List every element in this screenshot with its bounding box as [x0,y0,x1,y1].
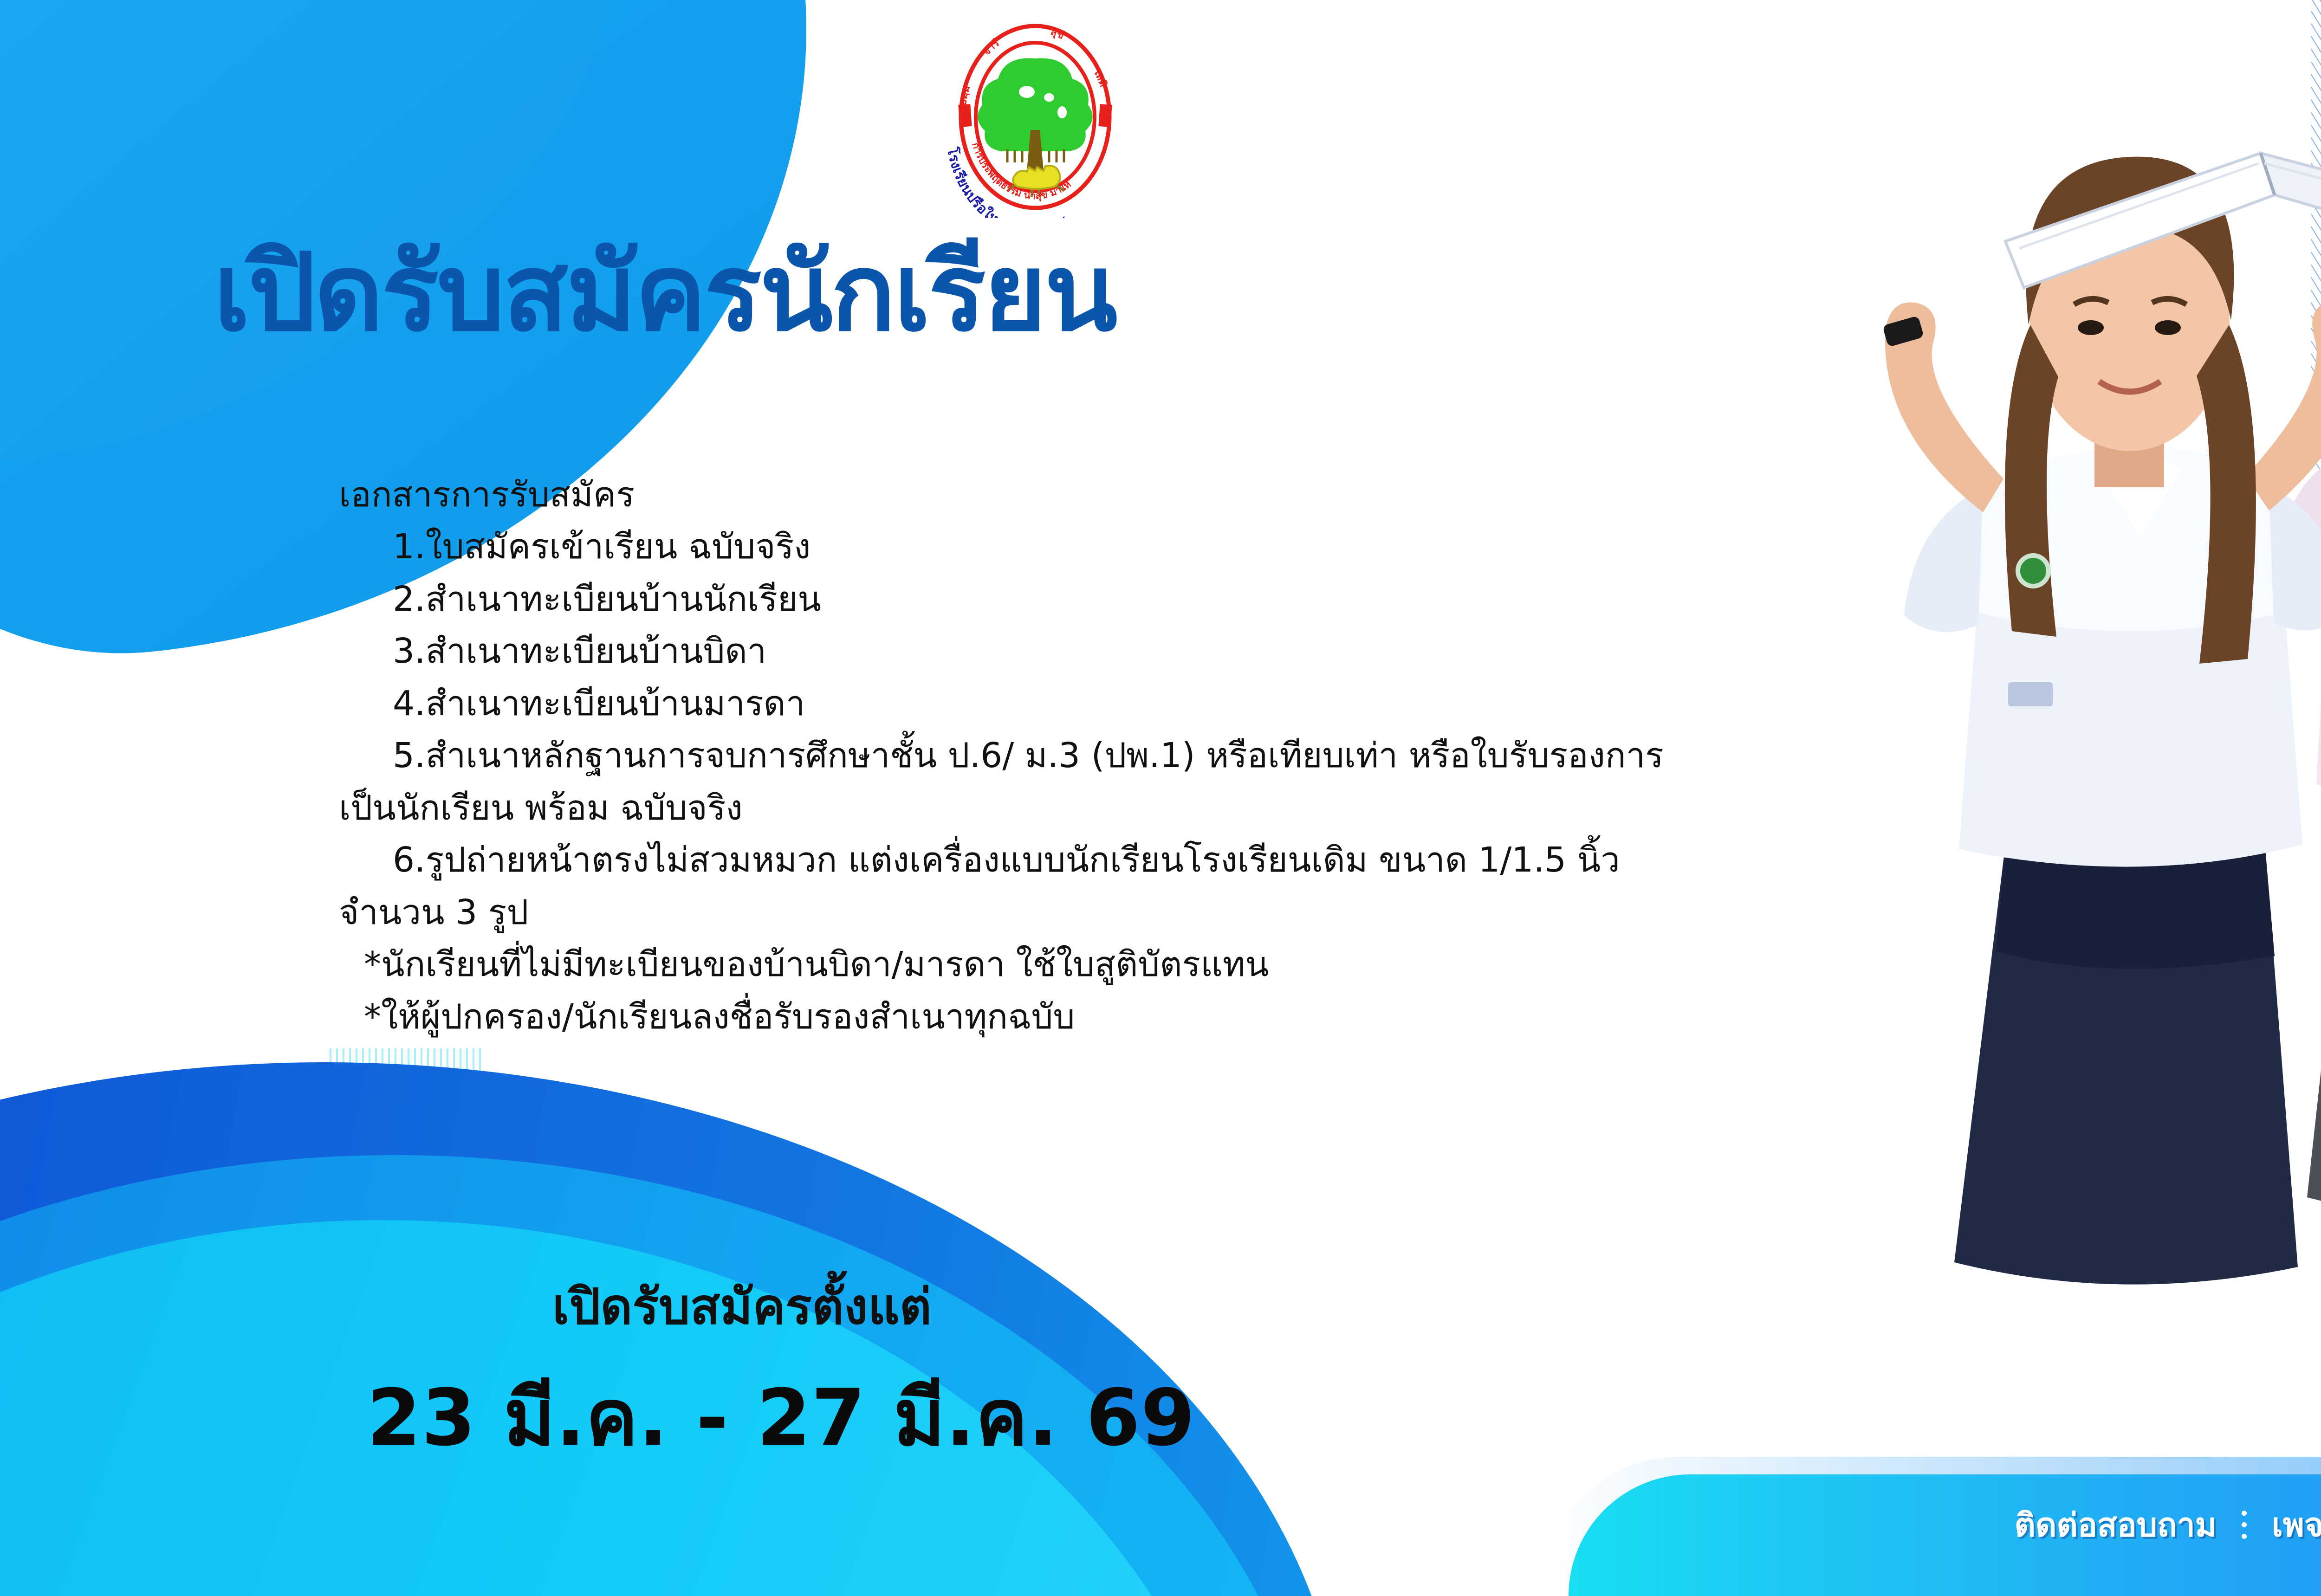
documents-heading: เอกสารการรับสมัคร [339,469,2010,521]
list-item: 2.สำเนาทะเบียนบ้านนักเรียน [339,573,2010,625]
list-item-5-line-2: เป็นนักเรียน พร้อม ฉบับจริง [339,782,2010,834]
date-range: 23 มี.ค. - 27 มี.ค. 69 [367,1355,1195,1479]
list-item-5-line-1: 5.สำเนาหลักฐานการจบการศึกษาชั้น ป.6/ ม.3… [339,730,2010,782]
facebook-page-link[interactable]: เพจโรงเรียน https://www.facebook.com/PWL… [2272,1499,2321,1551]
list-item-6-line-2: จำนวน 3 รูป [339,886,2010,938]
contact-row: ติดต่อสอบถาม เพจโรงเรียน https://www.fac… [2015,1499,2321,1551]
note-2: *ให้ผู้ปกครอง/นักเรียนลงชื่อรับรองสำเนาท… [339,991,2010,1043]
poster-canvas: ธมฺม จารี สุขํ เสติ การประพฤติธรรม นำสุข… [0,0,2321,1596]
list-item: 1.ใบสมัครเข้าเรียน ฉบับจริง [339,521,2010,573]
colon-separator-icon [2232,1511,2256,1539]
note-1: *นักเรียนที่ไม่มีทะเบียนของบ้านบิดา/มารด… [339,938,2010,990]
school-logo: ธมฺม จารี สุขํ เสติ การประพฤติธรรม นำสุข… [938,14,1133,218]
page-title: เปิดรับสมัครนักเรียน [214,237,1885,350]
list-item: 4.สำเนาทะเบียนบ้านมารดา [339,678,2010,730]
open-from-label: เปิดรับสมัครตั้งแต่ [552,1267,932,1345]
school-logo-svg: ธมฺม จารี สุขํ เสติ การประพฤติธรรม นำสุข… [938,14,1133,218]
list-item: 3.สำเนาทะเบียนบ้านบิดา [339,625,2010,677]
documents-list: เอกสารการรับสมัคร 1.ใบสมัครเข้าเรียน ฉบั… [339,469,2010,1043]
list-item-6-line-1: 6.รูปถ่ายหน้าตรงไม่สวมหมวก แต่งเครื่องแบ… [339,834,2010,886]
contact-label: ติดต่อสอบถาม [2015,1499,2217,1551]
